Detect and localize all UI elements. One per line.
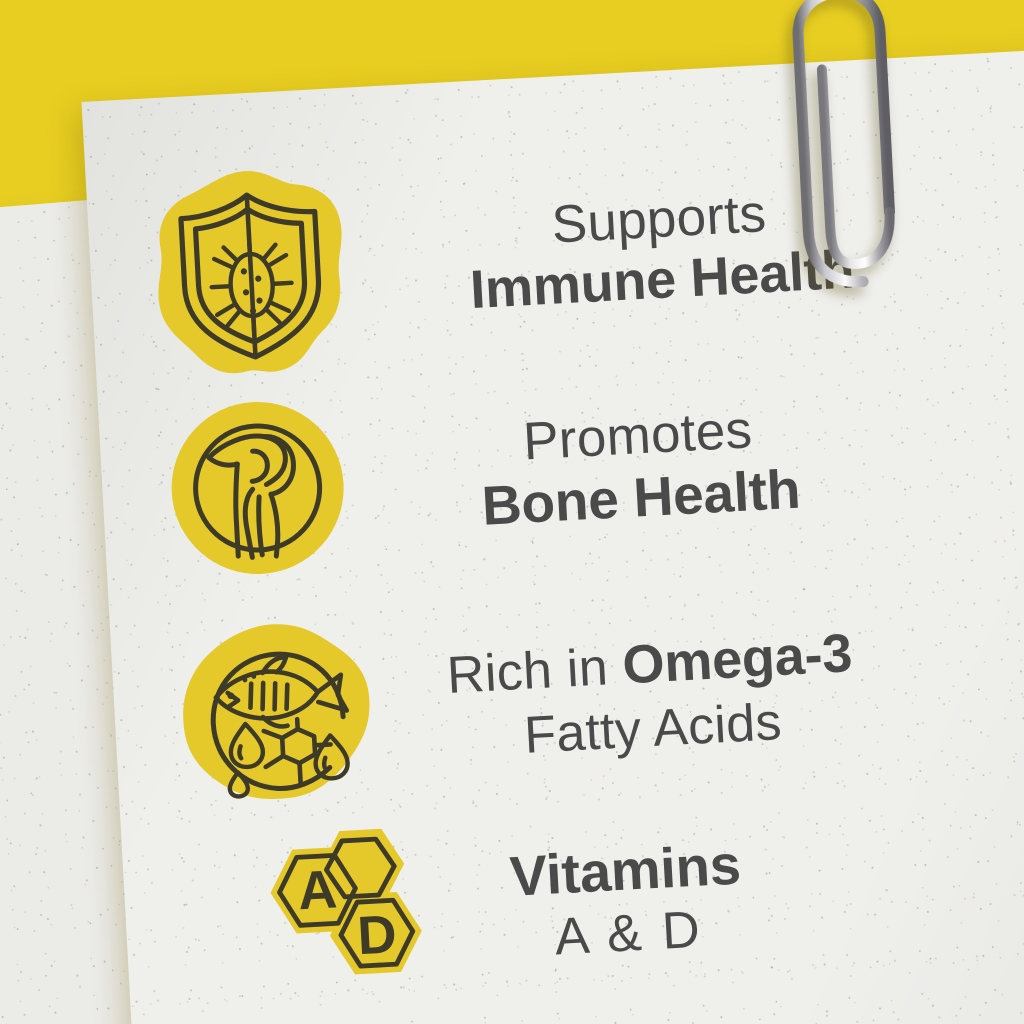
shield-bug-icon [145, 160, 356, 386]
shield-bug-badge [145, 160, 356, 386]
benefit-row-immune: Supports Immune Health [145, 133, 858, 386]
hexagon-letter-a: A [296, 859, 338, 921]
bone-joint-icon [158, 388, 358, 588]
benefit-line1-immune: Supports [550, 187, 767, 253]
benefit-line2-bone: Bone Health [480, 461, 801, 534]
hexagon-letter-d: D [356, 904, 398, 966]
benefit-line1-omega-prefix: Rich in [446, 638, 625, 705]
fish-omega-icon [172, 615, 382, 816]
benefit-line2-vitamins: A & D [553, 903, 704, 964]
benefit-row-vitamins: A D Vitamins A & D [229, 808, 747, 1010]
benefit-caption-vitamins: Vitamins A & D [508, 836, 745, 966]
benefit-line1-bone: Promotes [522, 403, 754, 469]
benefit-line2-omega: Fatty Acids [523, 697, 783, 764]
benefit-line1-omega: Rich in Omega-3 [445, 623, 853, 707]
vitamins-hexagon-icon: A D [229, 824, 438, 1010]
fish-omega-badge [172, 615, 382, 816]
benefit-row-bone: Promotes Bone Health [158, 364, 804, 588]
benefit-line1-vitamins: Vitamins [508, 836, 742, 906]
benefit-caption-bone: Promotes Bone Health [477, 401, 801, 534]
paperclip-icon [777, 0, 924, 315]
bone-joint-badge [158, 388, 358, 588]
benefit-caption-omega: Rich in Omega-3 Fatty Acids [445, 623, 857, 768]
benefit-line1-omega-emphasis: Omega-3 [621, 624, 854, 696]
poster-canvas: Supports Immune Health [0, 0, 1024, 1024]
benefit-row-omega: Rich in Omega-3 Fatty Acids [172, 589, 859, 815]
vitamins-hexagon-badge: A D [229, 824, 438, 1010]
